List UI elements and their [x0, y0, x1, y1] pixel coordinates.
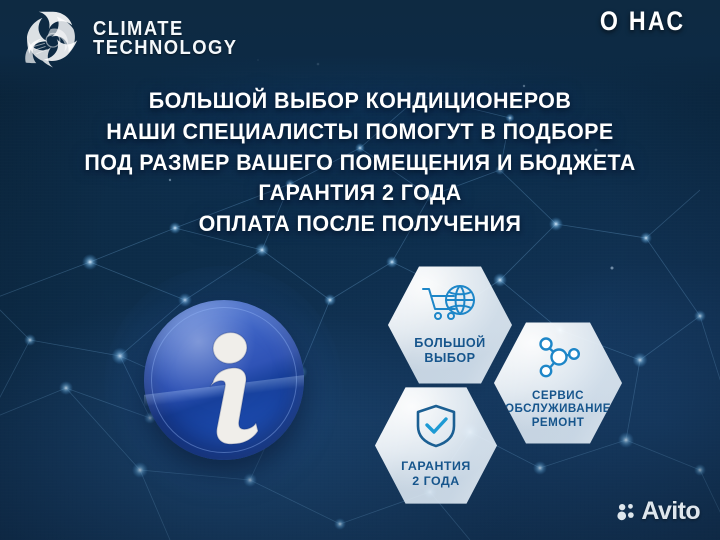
info-sphere-body — [144, 300, 304, 460]
brand-logo[interactable]: CLIMATE TECHNOLOGY — [22, 8, 250, 70]
info-sphere-icon — [144, 300, 304, 460]
feature-label-line2: ОБСЛУЖИВАНИЕ — [505, 402, 611, 415]
feature-label-line2: ВЫБОР — [414, 351, 485, 366]
avito-wordmark: Avito — [641, 497, 700, 526]
shield-check-icon — [414, 403, 458, 454]
feature-hex-warranty-label: ГАРАНТИЯ 2 ГОДА — [401, 459, 471, 487]
feature-label-line3: РЕМОНТ — [505, 416, 611, 429]
fan-swirl-logo-icon — [22, 8, 84, 70]
brand-name-line2: TECHNOLOGY — [93, 39, 238, 58]
feature-label-line2: 2 ГОДА — [401, 474, 471, 488]
promo-banner: CLIMATE TECHNOLOGY О НАС БОЛЬШОЙ ВЫБОР К… — [0, 0, 720, 540]
headline-block: БОЛЬШОЙ ВЫБОР КОНДИЦИОНЕРОВ НАШИ СПЕЦИАЛ… — [0, 86, 720, 240]
headline-line-1: БОЛЬШОЙ ВЫБОР КОНДИЦИОНЕРОВ — [16, 86, 704, 117]
headline-line-3: ПОД РАЗМЕР ВАШЕГО ПОМЕЩЕНИЯ И БЮДЖЕТА — [16, 148, 704, 179]
headline-line-4: ГАРАНТИЯ 2 ГОДА — [16, 178, 704, 209]
shopping-cart-globe-icon — [421, 285, 479, 330]
headline-line-5: ОПЛАТА ПОСЛЕ ПОЛУЧЕНИЯ — [16, 209, 704, 240]
network-nodes-icon — [535, 337, 581, 384]
info-sphere — [130, 288, 316, 474]
feature-hex-choice-label: БОЛЬШОЙ ВЫБОР — [414, 336, 485, 365]
feature-label-line1: СЕРВИС — [505, 389, 611, 402]
feature-label-line1: ГАРАНТИЯ — [401, 459, 471, 473]
page-title: О НАС — [600, 6, 685, 37]
info-sphere-glyph — [144, 300, 304, 460]
feature-hex-service-label: СЕРВИС ОБСЛУЖИВАНИЕ РЕМОНТ — [505, 389, 611, 429]
brand-name: CLIMATE TECHNOLOGY — [93, 20, 238, 58]
avito-watermark: Avito — [617, 497, 700, 526]
headline-line-2: НАШИ СПЕЦИАЛИСТЫ ПОМОГУТ В ПОДБОРЕ — [16, 117, 704, 148]
avito-dots-icon — [617, 502, 636, 521]
feature-label-line1: БОЛЬШОЙ — [414, 336, 485, 351]
